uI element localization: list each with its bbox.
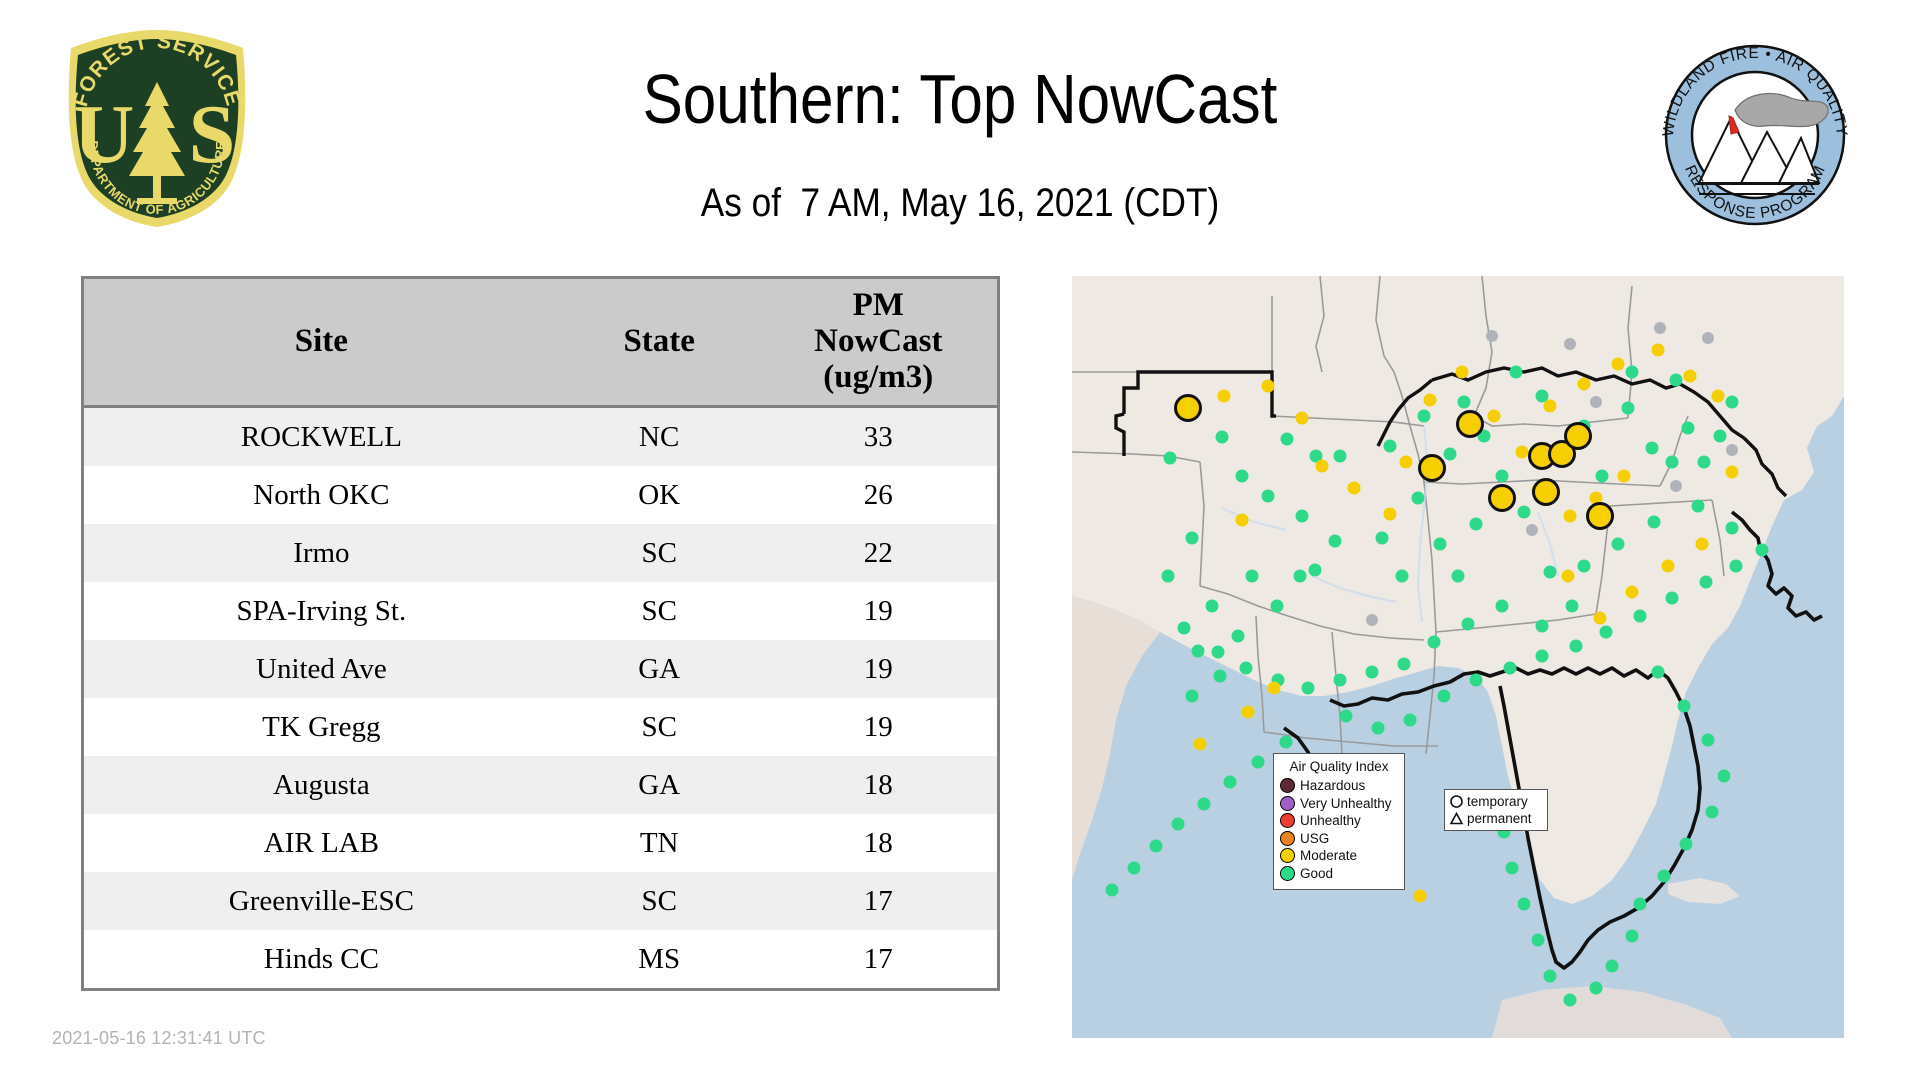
site-marker-good[interactable]	[1192, 645, 1205, 658]
table-row: United AveGA19	[84, 640, 997, 698]
legend-row-permanent: permanent	[1449, 810, 1543, 827]
site-marker-good[interactable]	[1172, 818, 1185, 831]
table-row: IrmoSC22	[84, 524, 997, 582]
site-marker-good[interactable]	[1246, 570, 1259, 583]
aqi-swatch-icon	[1280, 813, 1295, 828]
site-marker-top-nowcast[interactable]	[1588, 504, 1613, 529]
site-marker-top-nowcast[interactable]	[1458, 412, 1483, 437]
site-marker-good[interactable]	[1714, 430, 1727, 443]
site-marker-moderate[interactable]	[1488, 410, 1501, 423]
site-marker-good[interactable]	[1206, 600, 1219, 613]
site-marker-good[interactable]	[1532, 934, 1545, 947]
circle-icon	[1449, 794, 1464, 809]
site-marker-good[interactable]	[1372, 722, 1385, 735]
aqi-swatch-icon	[1280, 778, 1295, 793]
site-marker-good[interactable]	[1329, 535, 1342, 548]
site-marker-top-nowcast[interactable]	[1176, 396, 1201, 421]
site-marker-good[interactable]	[1212, 646, 1225, 659]
site-marker-top-nowcast[interactable]	[1490, 486, 1515, 511]
site-marker-good[interactable]	[1334, 450, 1347, 463]
cell-site: Augusta	[84, 756, 559, 814]
site-marker-good[interactable]	[1224, 776, 1237, 789]
page-subtitle: As of 7 AM, May 16, 2021 (CDT)	[450, 180, 1471, 226]
site-marker-moderate[interactable]	[1242, 706, 1255, 719]
site-marker-good[interactable]	[1458, 396, 1471, 409]
site-marker-top-nowcast[interactable]	[1566, 424, 1591, 449]
site-marker-moderate[interactable]	[1424, 394, 1437, 407]
site-marker-good[interactable]	[1262, 490, 1275, 503]
site-marker-good[interactable]	[1666, 456, 1679, 469]
site-marker-moderate[interactable]	[1316, 460, 1329, 473]
site-marker-good[interactable]	[1404, 714, 1417, 727]
aqi-legend-row: Very Unhealthy	[1280, 795, 1398, 813]
site-marker-good[interactable]	[1612, 538, 1625, 551]
site-marker-good[interactable]	[1682, 422, 1695, 435]
cell-site: North OKC	[84, 466, 559, 524]
site-marker-good[interactable]	[1726, 396, 1739, 409]
site-marker-good[interactable]	[1702, 734, 1715, 747]
svg-text:S: S	[189, 88, 236, 181]
cell-site: Greenville-ESC	[84, 872, 559, 930]
table-row: Hinds CCMS17	[84, 930, 997, 988]
site-marker-nodata[interactable]	[1654, 322, 1666, 334]
site-marker-good[interactable]	[1198, 798, 1211, 811]
column-header-pm-nowcast: PM NowCast (ug/m3)	[760, 279, 997, 407]
legend-label-permanent: permanent	[1467, 811, 1532, 826]
site-marker-good[interactable]	[1566, 600, 1579, 613]
site-marker-moderate[interactable]	[1618, 470, 1631, 483]
cell-value: 19	[760, 698, 997, 756]
site-marker-good[interactable]	[1564, 994, 1577, 1007]
air-quality-map[interactable]: Air Quality Index HazardousVery Unhealth…	[1072, 276, 1844, 1038]
site-marker-good[interactable]	[1506, 862, 1519, 875]
site-marker-nodata[interactable]	[1726, 444, 1738, 456]
table-row: North OKCOK26	[84, 466, 997, 524]
aqi-legend-label: USG	[1300, 831, 1329, 846]
site-marker-moderate[interactable]	[1384, 508, 1397, 521]
site-marker-nodata[interactable]	[1670, 480, 1682, 492]
site-marker-nodata[interactable]	[1486, 330, 1498, 342]
site-marker-nodata[interactable]	[1702, 332, 1714, 344]
site-marker-good[interactable]	[1296, 510, 1309, 523]
site-marker-good[interactable]	[1570, 640, 1583, 653]
aqi-swatch-icon	[1280, 796, 1295, 811]
aqi-legend-row: Hazardous	[1280, 777, 1398, 795]
site-marker-good[interactable]	[1240, 662, 1253, 675]
site-marker-good[interactable]	[1470, 518, 1483, 531]
site-marker-good[interactable]	[1518, 898, 1531, 911]
site-marker-good[interactable]	[1470, 674, 1483, 687]
site-type-legend: temporary permanent	[1444, 789, 1548, 831]
cell-site: Hinds CC	[84, 930, 559, 988]
site-marker-good[interactable]	[1186, 532, 1199, 545]
site-marker-moderate[interactable]	[1626, 586, 1639, 599]
aqi-legend-label: Unhealthy	[1300, 813, 1361, 828]
legend-row-temporary: temporary	[1449, 793, 1543, 810]
table-header-row: Site State PM NowCast (ug/m3)	[84, 279, 997, 407]
site-marker-good[interactable]	[1544, 970, 1557, 983]
aqi-legend-row: Unhealthy	[1280, 812, 1398, 830]
site-marker-moderate[interactable]	[1236, 514, 1249, 527]
site-marker-good[interactable]	[1281, 433, 1294, 446]
cell-site: United Ave	[84, 640, 559, 698]
site-marker-moderate[interactable]	[1296, 412, 1309, 425]
cell-state: NC	[559, 407, 760, 467]
table-row: TK GreggSC19	[84, 698, 997, 756]
site-marker-good[interactable]	[1164, 452, 1177, 465]
cell-state: SC	[559, 698, 760, 756]
cell-state: TN	[559, 814, 760, 872]
cell-state: GA	[559, 756, 760, 814]
site-marker-moderate[interactable]	[1268, 682, 1281, 695]
site-marker-moderate[interactable]	[1400, 456, 1413, 469]
site-marker-good[interactable]	[1646, 442, 1659, 455]
site-marker-good[interactable]	[1600, 626, 1613, 639]
site-marker-good[interactable]	[1706, 806, 1719, 819]
site-marker-good[interactable]	[1334, 674, 1347, 687]
triangle-icon	[1449, 811, 1464, 826]
table-row: AIR LABTN18	[84, 814, 997, 872]
cell-state: SC	[559, 872, 760, 930]
cell-site: SPA-Irving St.	[84, 582, 559, 640]
site-marker-moderate[interactable]	[1562, 570, 1575, 583]
site-marker-moderate[interactable]	[1726, 466, 1739, 479]
site-marker-moderate[interactable]	[1594, 612, 1607, 625]
aqi-swatch-icon	[1280, 848, 1295, 863]
site-marker-good[interactable]	[1536, 620, 1549, 633]
shield-icon: FOREST SERVICE DEPARTMENT OF AGRICULTURE…	[69, 30, 246, 227]
site-marker-good[interactable]	[1756, 544, 1769, 557]
site-marker-good[interactable]	[1232, 630, 1245, 643]
site-marker-good[interactable]	[1340, 710, 1353, 723]
site-marker-good[interactable]	[1698, 456, 1711, 469]
site-marker-good[interactable]	[1294, 570, 1307, 583]
site-marker-good[interactable]	[1726, 522, 1739, 535]
site-marker-moderate[interactable]	[1456, 366, 1469, 379]
cell-state: GA	[559, 640, 760, 698]
site-marker-good[interactable]	[1622, 402, 1635, 415]
site-marker-moderate[interactable]	[1712, 390, 1725, 403]
site-marker-good[interactable]	[1658, 870, 1671, 883]
site-marker-moderate[interactable]	[1516, 446, 1529, 459]
site-marker-good[interactable]	[1366, 666, 1379, 679]
aqi-legend-label: Hazardous	[1300, 778, 1365, 793]
cell-site: Irmo	[84, 524, 559, 582]
cell-value: 17	[760, 930, 997, 988]
site-marker-good[interactable]	[1271, 600, 1284, 613]
site-marker-good[interactable]	[1252, 756, 1265, 769]
usda-forest-service-logo: FOREST SERVICE DEPARTMENT OF AGRICULTURE…	[57, 26, 257, 231]
site-marker-top-nowcast[interactable]	[1420, 456, 1445, 481]
cell-value: 18	[760, 814, 997, 872]
site-marker-good[interactable]	[1384, 440, 1397, 453]
site-marker-good[interactable]	[1216, 431, 1229, 444]
aqi-legend-label: Good	[1300, 866, 1333, 881]
site-marker-moderate[interactable]	[1662, 560, 1675, 573]
site-marker-moderate[interactable]	[1684, 370, 1697, 383]
cell-state: SC	[559, 524, 760, 582]
site-marker-moderate[interactable]	[1218, 390, 1231, 403]
site-marker-moderate[interactable]	[1414, 890, 1427, 903]
site-marker-moderate[interactable]	[1612, 358, 1625, 371]
site-marker-good[interactable]	[1718, 770, 1731, 783]
site-marker-moderate[interactable]	[1348, 482, 1361, 495]
cell-value: 22	[760, 524, 997, 582]
cell-site: ROCKWELL	[84, 407, 559, 467]
cell-state: MS	[559, 930, 760, 988]
site-marker-top-nowcast[interactable]	[1534, 480, 1559, 505]
table-row: AugustaGA18	[84, 756, 997, 814]
wfaqrp-logo: WILDLAND FIRE • AIR QUALITY RESPONSE PRO…	[1655, 40, 1855, 230]
aqi-swatch-icon	[1280, 831, 1295, 846]
cell-value: 19	[760, 640, 997, 698]
site-marker-moderate[interactable]	[1578, 378, 1591, 391]
site-marker-good[interactable]	[1634, 898, 1647, 911]
site-marker-good[interactable]	[1376, 532, 1389, 545]
generated-timestamp: 2021-05-16 12:31:41 UTC	[52, 1028, 266, 1049]
site-marker-good[interactable]	[1106, 884, 1119, 897]
site-marker-good[interactable]	[1730, 560, 1743, 573]
aqi-legend-title: Air Quality Index	[1280, 759, 1398, 774]
cell-state: SC	[559, 582, 760, 640]
site-marker-good[interactable]	[1418, 410, 1431, 423]
site-marker-good[interactable]	[1309, 564, 1322, 577]
site-marker-good[interactable]	[1578, 560, 1591, 573]
site-marker-good[interactable]	[1462, 618, 1475, 631]
table-row: Greenville-ESCSC17	[84, 872, 997, 930]
site-marker-good[interactable]	[1648, 516, 1661, 529]
aqi-legend: Air Quality Index HazardousVery Unhealth…	[1273, 753, 1405, 890]
site-marker-good[interactable]	[1678, 700, 1691, 713]
site-marker-good[interactable]	[1692, 500, 1705, 513]
site-marker-good[interactable]	[1670, 374, 1683, 387]
site-marker-good[interactable]	[1398, 658, 1411, 671]
site-marker-good[interactable]	[1214, 670, 1227, 683]
aqi-legend-label: Moderate	[1300, 848, 1357, 863]
site-marker-good[interactable]	[1186, 690, 1199, 703]
cell-value: 18	[760, 756, 997, 814]
column-header-site: Site	[84, 279, 559, 407]
site-marker-moderate[interactable]	[1696, 538, 1709, 551]
site-marker-good[interactable]	[1544, 566, 1557, 579]
site-marker-good[interactable]	[1606, 960, 1619, 973]
site-marker-moderate[interactable]	[1262, 380, 1275, 393]
site-marker-good[interactable]	[1626, 366, 1639, 379]
site-marker-good[interactable]	[1504, 662, 1517, 675]
site-marker-nodata[interactable]	[1564, 338, 1576, 350]
site-marker-good[interactable]	[1412, 492, 1425, 505]
page-title: Southern: Top NowCast	[461, 60, 1459, 138]
site-marker-good[interactable]	[1236, 470, 1249, 483]
site-marker-good[interactable]	[1150, 840, 1163, 853]
site-marker-good[interactable]	[1634, 610, 1647, 623]
site-marker-good[interactable]	[1536, 650, 1549, 663]
site-marker-good[interactable]	[1280, 736, 1293, 749]
cell-value: 17	[760, 872, 997, 930]
table-row: SPA-Irving St.SC19	[84, 582, 997, 640]
site-marker-moderate[interactable]	[1544, 400, 1557, 413]
site-marker-good[interactable]	[1680, 838, 1693, 851]
site-marker-good[interactable]	[1178, 622, 1191, 635]
aqi-legend-row: USG	[1280, 830, 1398, 848]
svg-text:U: U	[74, 88, 135, 181]
site-marker-good[interactable]	[1396, 570, 1409, 583]
site-marker-good[interactable]	[1666, 592, 1679, 605]
site-marker-nodata[interactable]	[1590, 396, 1602, 408]
site-marker-good[interactable]	[1428, 636, 1441, 649]
site-marker-moderate[interactable]	[1194, 738, 1207, 751]
site-marker-good[interactable]	[1128, 862, 1141, 875]
aqi-legend-label: Very Unhealthy	[1300, 796, 1392, 811]
site-marker-moderate[interactable]	[1564, 510, 1577, 523]
aqi-swatch-icon	[1280, 866, 1295, 881]
site-marker-good[interactable]	[1596, 470, 1609, 483]
cell-state: OK	[559, 466, 760, 524]
site-marker-good[interactable]	[1162, 570, 1175, 583]
site-marker-nodata[interactable]	[1526, 524, 1538, 536]
cell-value: 26	[760, 466, 997, 524]
column-header-state: State	[559, 279, 760, 407]
site-marker-good[interactable]	[1652, 666, 1665, 679]
site-marker-good[interactable]	[1438, 690, 1451, 703]
site-marker-good[interactable]	[1444, 448, 1457, 461]
legend-label-temporary: temporary	[1467, 794, 1528, 809]
site-marker-good[interactable]	[1434, 538, 1447, 551]
site-marker-good[interactable]	[1496, 470, 1509, 483]
site-marker-good[interactable]	[1496, 600, 1509, 613]
aqi-legend-row: Moderate	[1280, 847, 1398, 865]
site-marker-good[interactable]	[1590, 982, 1603, 995]
site-marker-good[interactable]	[1452, 570, 1465, 583]
site-marker-good[interactable]	[1518, 506, 1531, 519]
cell-value: 33	[760, 407, 997, 467]
site-marker-nodata[interactable]	[1366, 614, 1378, 626]
cell-value: 19	[760, 582, 997, 640]
cell-site: TK Gregg	[84, 698, 559, 756]
site-marker-good[interactable]	[1700, 576, 1713, 589]
cell-site: AIR LAB	[84, 814, 559, 872]
site-marker-good[interactable]	[1510, 366, 1523, 379]
aqi-legend-row: Good	[1280, 865, 1398, 883]
site-marker-good[interactable]	[1626, 930, 1639, 943]
top-nowcast-table: Site State PM NowCast (ug/m3) ROCKWELLNC…	[81, 276, 1000, 991]
site-marker-good[interactable]	[1302, 682, 1315, 695]
table-row: ROCKWELLNC33	[84, 407, 997, 467]
site-marker-moderate[interactable]	[1652, 344, 1665, 357]
